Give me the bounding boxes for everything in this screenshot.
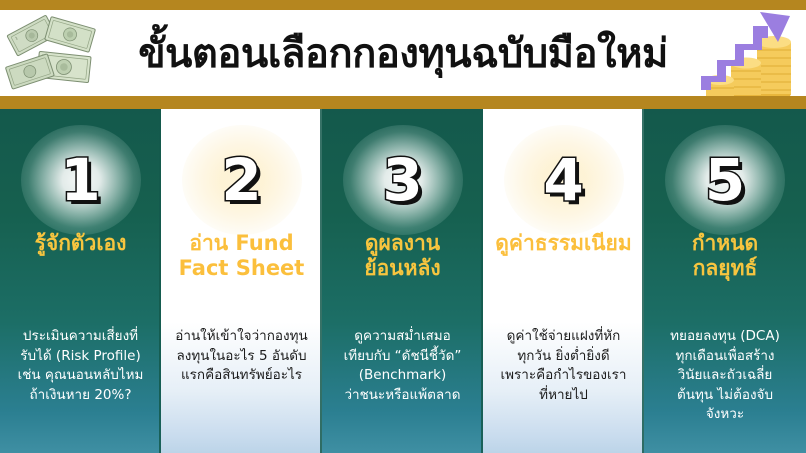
growth-arrow-coins-icon [698,2,802,106]
step-body-1: ประเมินความเสี่ยงที่ รับได้ (Risk Profil… [8,327,153,405]
step-column-2[interactable]: 2 อ่าน Fund Fact Sheet อ่านให้เข้าใจว่าก… [161,109,322,453]
steps-row: 1 รู้จักตัวเอง ประเมินความเสี่ยงที่ รับไ… [0,109,806,453]
step-heading-3: ดูผลงาน ย้อนหลัง [328,231,477,281]
step-column-4[interactable]: 4 ดูค่าธรรมเนียม ดูค่าใช้จ่ายแฝงที่หัก ท… [483,109,644,453]
step-heading-1: รู้จักตัวเอง [6,231,155,256]
header-top-gold-bar [0,0,806,10]
step-number-badge-2: 2 [184,127,300,233]
step-number-badge-5: 5 [667,127,783,233]
step-body-4: ดูค่าใช้จ่ายแฝงที่หัก ทุกวัน ยิ่งต่ำยิ่ง… [491,327,636,405]
step-number-badge-3: 3 [345,127,461,233]
step-column-3[interactable]: 3 ดูผลงาน ย้อนหลัง ดูความสม่ำเสมอ เทียบก… [322,109,483,453]
step-number-badge-4: 4 [506,127,622,233]
step-column-5[interactable]: 5 กำหนด กลยุทธ์ ทยอยลงทุน (DCA) ทุกเดือน… [644,109,806,453]
header-banner: 1 [0,0,806,110]
step-heading-5: กำหนด กลยุทธ์ [650,231,800,281]
step-number-5: 5 [705,151,745,209]
infographic-root: 1 [0,0,806,453]
page-title: ขั้นตอนเลือกกองทุนฉบับมือใหม่ [103,12,703,96]
header-bottom-gold-bar [0,96,806,109]
step-number-1: 1 [60,151,100,209]
step-body-2: อ่านให้เข้าใจว่ากองทุน ลงทุนในอะไร 5 อัน… [169,327,314,386]
step-heading-2: อ่าน Fund Fact Sheet [167,231,316,281]
step-heading-4: ดูค่าธรรมเนียม [489,231,638,256]
step-number-3: 3 [382,151,422,209]
step-number-badge-1: 1 [23,127,139,233]
flying-money-bills-icon: 1 [2,10,102,96]
step-body-3: ดูความสม่ำเสมอ เทียบกับ “ดัชนีชี้วัด” (B… [330,327,475,405]
step-number-4: 4 [543,151,583,209]
step-number-2: 2 [221,151,261,209]
step-body-5: ทยอยลงทุน (DCA) ทุกเดือนเพื่อสร้าง วินัย… [652,327,798,425]
step-column-1[interactable]: 1 รู้จักตัวเอง ประเมินความเสี่ยงที่ รับไ… [0,109,161,453]
